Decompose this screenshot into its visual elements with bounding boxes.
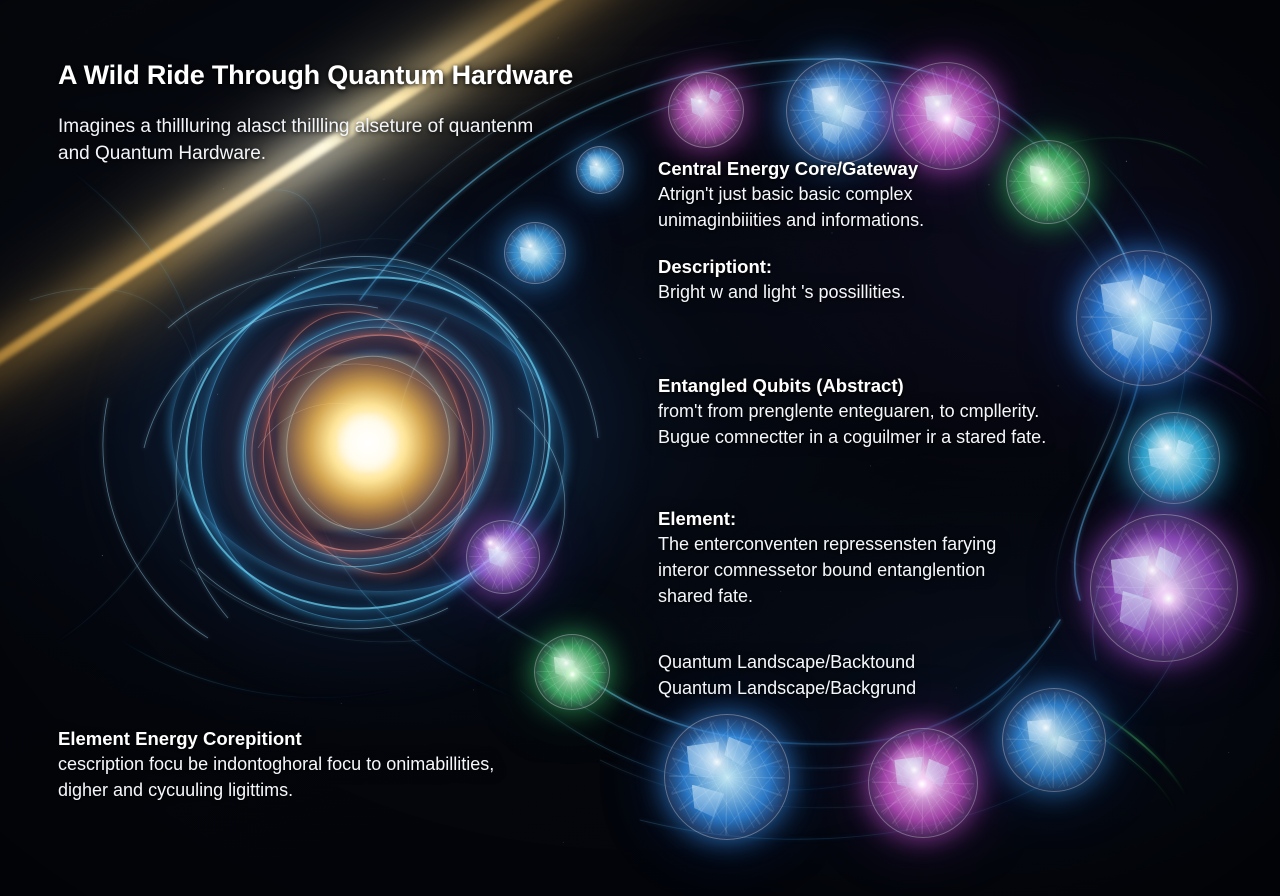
orb-inner-flare: [1149, 579, 1187, 617]
orb-inner-flare: [908, 770, 937, 799]
orb-facet: [925, 759, 949, 788]
orb-magenta-bottom: [868, 728, 978, 838]
orb-facet: [894, 757, 923, 790]
annotation-body: cescription focu be indontoghoral focu t…: [58, 752, 528, 804]
orb-facet: [1149, 321, 1182, 354]
annotation-body: The enterconventen repressensten farying…: [658, 532, 1038, 610]
orb-facet: [811, 86, 839, 118]
central-energy-core: [128, 228, 608, 658]
orb-cyan-small-upper: [576, 146, 624, 194]
orb-facet: [1139, 274, 1166, 304]
orb-blue-bottom-right: [1002, 688, 1106, 792]
orb-facet: [1176, 440, 1194, 460]
annotation-element: Element: The enterconventen repressenste…: [658, 508, 1038, 610]
orb-facet: [1148, 447, 1172, 471]
orb-inner-flare: [482, 535, 498, 551]
annotation-heading: Central Energy Core/Gateway: [658, 158, 1018, 180]
orb-inner-flare: [564, 666, 581, 683]
orb-facet: [1111, 555, 1149, 599]
orb-magenta-top-right: [892, 62, 1000, 170]
annotation-body: from't from prenglente enteguaren, to cm…: [658, 399, 1048, 451]
orb-facet: [1155, 547, 1182, 580]
orb-facet: [1030, 165, 1052, 187]
orb-green-lower-center: [534, 634, 610, 710]
annotation-body: Atrign't just basic basic complex unimag…: [658, 182, 1018, 234]
annotation-description: Descriptiont: Bright w and light 's poss…: [658, 256, 1018, 306]
annotation-element-energy-core: Element Energy Corepitiont cescription f…: [58, 728, 528, 804]
orb-blue-right-upper: [1076, 250, 1212, 386]
annotation-quantum-landscape: Quantum Landscape/Backtound Quantum Land…: [658, 650, 1038, 702]
orb-purple-center: [466, 520, 540, 594]
orb-inner-flare: [1035, 169, 1055, 189]
orb-facet: [924, 94, 952, 124]
annotation-central-energy-core: Central Energy Core/Gateway Atrign't jus…: [658, 158, 1018, 234]
page-title: A Wild Ride Through Quantum Hardware: [58, 60, 573, 91]
annotation-heading: Descriptiont:: [658, 256, 1018, 278]
orb-cyan-right-mid: [1128, 412, 1220, 504]
annotation-landscape-line-1: Quantum Landscape/Backtound: [658, 650, 1038, 676]
annotation-body: Bright w and light 's possillities.: [658, 280, 1018, 306]
orb-purple-right-lower: [1090, 514, 1238, 662]
orb-facet: [1100, 280, 1133, 318]
orb-green-upper-right: [1006, 140, 1090, 224]
orb-inner-flare: [933, 105, 961, 133]
orb-facet: [692, 785, 725, 818]
orb-blue-top: [786, 58, 892, 164]
orb-facet: [822, 122, 843, 145]
quantum-poster-canvas: A Wild Ride Through Quantum Hardware Ima…: [0, 0, 1280, 896]
orb-facet: [1111, 329, 1138, 359]
annotation-entangled-qubits: Entangled Qubits (Abstract) from't from …: [658, 375, 1048, 451]
page-subtitle: Imagines a thillluring alasct thillling …: [58, 114, 548, 168]
orb-facet: [724, 737, 752, 767]
orb-facet: [687, 742, 720, 780]
orb-facet: [841, 105, 866, 130]
orb-blue-bottom-left: [664, 714, 790, 840]
orb-facet: [554, 657, 575, 678]
orb-cyan-small-mid: [504, 222, 566, 284]
orb-facet: [589, 165, 603, 178]
annotation-landscape-line-2: Quantum Landscape/Backgrund: [658, 676, 1038, 702]
annotation-heading: Element:: [658, 508, 1038, 530]
orb-facet: [709, 89, 723, 104]
orb-facet: [520, 247, 539, 264]
orb-magenta-top-left: [668, 72, 744, 148]
orb-facet: [1120, 591, 1153, 632]
orb-facet: [488, 548, 509, 567]
annotation-heading: Entangled Qubits (Abstract): [658, 375, 1048, 397]
orb-facet: [1056, 736, 1079, 759]
core-white-hotspot: [337, 413, 399, 473]
orb-facet: [691, 98, 708, 118]
annotation-heading: Element Energy Corepitiont: [58, 728, 528, 750]
orb-facet: [952, 116, 976, 142]
orb-facet: [1027, 719, 1052, 746]
